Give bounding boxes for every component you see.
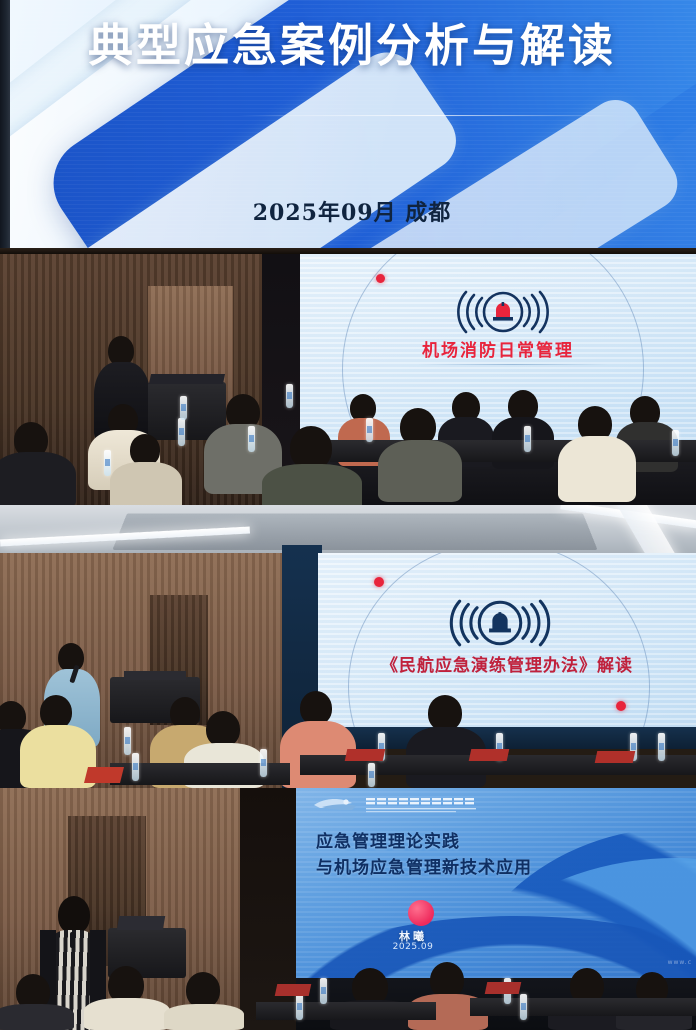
slide-title-line2: 与机场应急管理新技术应用 [316,856,532,882]
slide-caption: 机场消防日常管理 [300,336,696,361]
presenter-date: 2025.09 [358,942,468,952]
water-bottle [248,426,255,452]
microphone [70,932,75,948]
photo-collage: 典型应急案例分析与解读 2025年09月 成都 [0,0,696,1030]
decor-red-dot [616,701,626,711]
slide-title-line1: 应急管理理论实践 [316,830,532,856]
photo-edge-left [0,0,10,254]
water-bottle [320,978,327,1004]
name-card [275,984,312,996]
water-bottle [658,733,665,761]
name-card [469,749,510,761]
water-bottle [104,450,111,476]
equipment-top [124,671,186,680]
water-bottle [520,994,527,1020]
water-bottle [260,749,267,777]
lectern-top [149,374,225,384]
name-card [84,767,124,783]
water-bottle [286,384,293,408]
slide-title: 典型应急案例分析与解读 [8,22,696,69]
slide-title: 应急管理理论实践 与机场应急管理新技术应用 [316,830,532,881]
title-divider [238,115,623,116]
name-card [595,751,636,763]
name-card [485,982,522,994]
water-bottle [524,426,531,452]
projection-screen: 应急管理理论实践 与机场应急管理新技术应用 林曦 2025.09 www.c [296,788,696,988]
caac-second-research-institute-logo [312,794,492,816]
slide-canvas: 典型应急案例分析与解读 2025年09月 成都 [8,0,696,249]
panel-title-slide: 典型应急案例分析与解读 2025年09月 成都 [0,0,696,254]
watermark-url: www.c [668,959,692,966]
slide-caption: 《民航应急演练管理办法》解读 [318,651,696,676]
water-bottle [672,430,679,456]
screen-lower-band [318,727,696,749]
slide-date-location: 2025年09月 成都 [8,195,696,227]
decor-red-dot [376,274,385,283]
water-bottle [368,763,375,787]
audience-table [256,1002,436,1020]
panel-lecture-fire-management: 机场消防日常管理 [0,254,696,505]
water-bottle [296,994,303,1020]
projection-screen: 《民航应急演练管理办法》解读 [318,553,696,735]
water-bottle [178,418,185,446]
water-bottle [124,727,131,755]
water-bottle [132,753,139,781]
caption-divider [418,364,608,365]
photo-edge-bottom [0,248,696,254]
water-bottle [180,396,187,420]
laptop [117,916,165,930]
decor-red-dot [374,577,384,587]
water-bottle [366,418,373,442]
emergency-siren-icon [440,599,560,647]
emergency-siren-icon [448,290,558,334]
decor-pink-dot [408,900,434,926]
panel-lecture-emergency-theory: 应急管理理论实践 与机场应急管理新技术应用 林曦 2025.09 www.c [0,788,696,1030]
name-card [345,749,386,761]
panel-lecture-drill-regulation: 《民航应急演练管理办法》解读 [0,505,696,788]
